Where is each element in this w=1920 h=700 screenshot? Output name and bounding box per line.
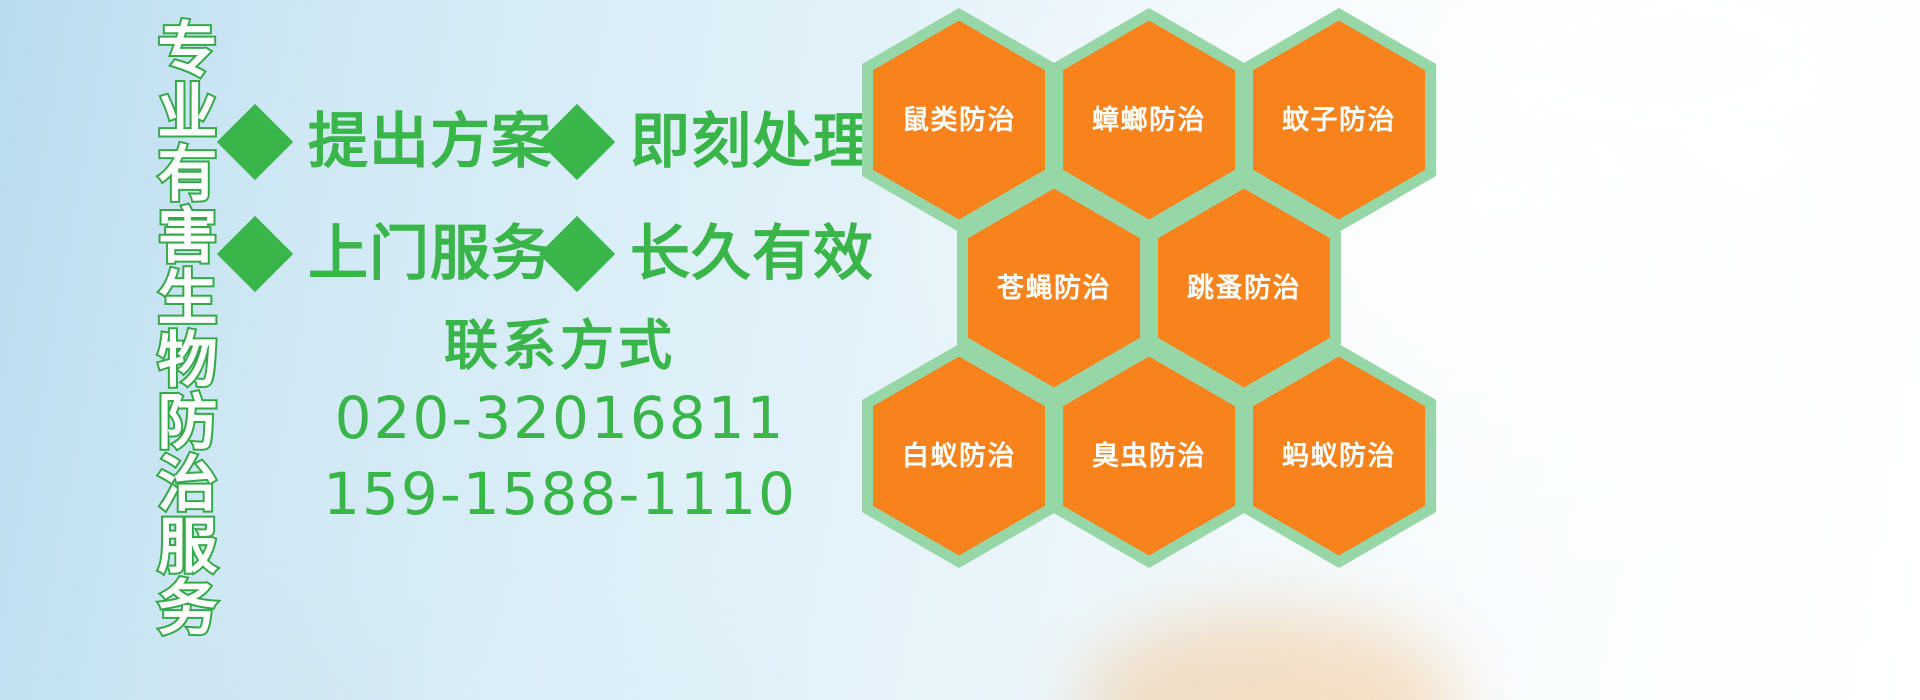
- pest-control-banner: 专业有害生物防治服务 提出方案 即刻处理 上门服务 长久有效 联系方式: [0, 0, 1920, 700]
- vertical-headline: 专业有害生物防治服务: [108, 18, 212, 638]
- feature-item: 提出方案: [228, 112, 550, 172]
- hex-inner: 臭虫防治: [1063, 357, 1235, 556]
- service-label: 苍蝇防治: [997, 275, 1111, 302]
- feature-item: 即刻处理: [550, 112, 874, 172]
- feature-label: 即刻处理: [630, 112, 874, 172]
- service-label: 蚂蚁防治: [1282, 443, 1396, 470]
- phone-number-landline[interactable]: 020-32016811: [250, 380, 870, 457]
- hex-inner: 鼠类防治: [873, 21, 1045, 220]
- service-label: 蚊子防治: [1282, 107, 1396, 134]
- service-label: 跳蚤防治: [1187, 275, 1301, 302]
- hex-inner: 蚊子防治: [1253, 21, 1425, 220]
- feature-row: 提出方案 即刻处理: [228, 86, 868, 198]
- service-label: 臭虫防治: [1092, 443, 1206, 470]
- service-label: 白蚁防治: [902, 443, 1016, 470]
- service-label: 鼠类防治: [902, 107, 1016, 134]
- diamond-icon: [217, 216, 293, 292]
- diamond-icon: [217, 104, 293, 180]
- phone-number-mobile[interactable]: 159-1588-1110: [250, 456, 870, 533]
- hex-inner: 跳蚤防治: [1158, 189, 1330, 388]
- background-blur-blob: [1450, 0, 1870, 180]
- feature-row: 上门服务 长久有效: [228, 198, 868, 310]
- hex-inner: 白蚁防治: [873, 357, 1045, 556]
- diamond-icon: [539, 216, 615, 292]
- contact-block: 联系方式 020-32016811 159-1588-1110: [250, 312, 870, 533]
- service-label: 蟑螂防治: [1092, 107, 1206, 134]
- feature-label: 长久有效: [630, 224, 874, 284]
- feature-list: 提出方案 即刻处理 上门服务 长久有效: [228, 86, 868, 310]
- hex-inner: 蟑螂防治: [1063, 21, 1235, 220]
- feature-label: 上门服务: [308, 224, 552, 284]
- diamond-icon: [539, 104, 615, 180]
- feature-label: 提出方案: [308, 112, 552, 172]
- feature-item: 上门服务: [228, 224, 550, 284]
- contact-title: 联系方式: [250, 312, 870, 380]
- services-honeycomb: 鼠类防治 蟑螂防治 蚊子防治 苍蝇防治 跳蚤防治 白蚁防治: [862, 4, 1462, 564]
- background-blur-blob: [430, 620, 770, 700]
- hex-inner: 蚂蚁防治: [1253, 357, 1425, 556]
- background-blur-blob: [1080, 610, 1460, 700]
- feature-item: 长久有效: [550, 224, 874, 284]
- hex-inner: 苍蝇防治: [968, 189, 1140, 388]
